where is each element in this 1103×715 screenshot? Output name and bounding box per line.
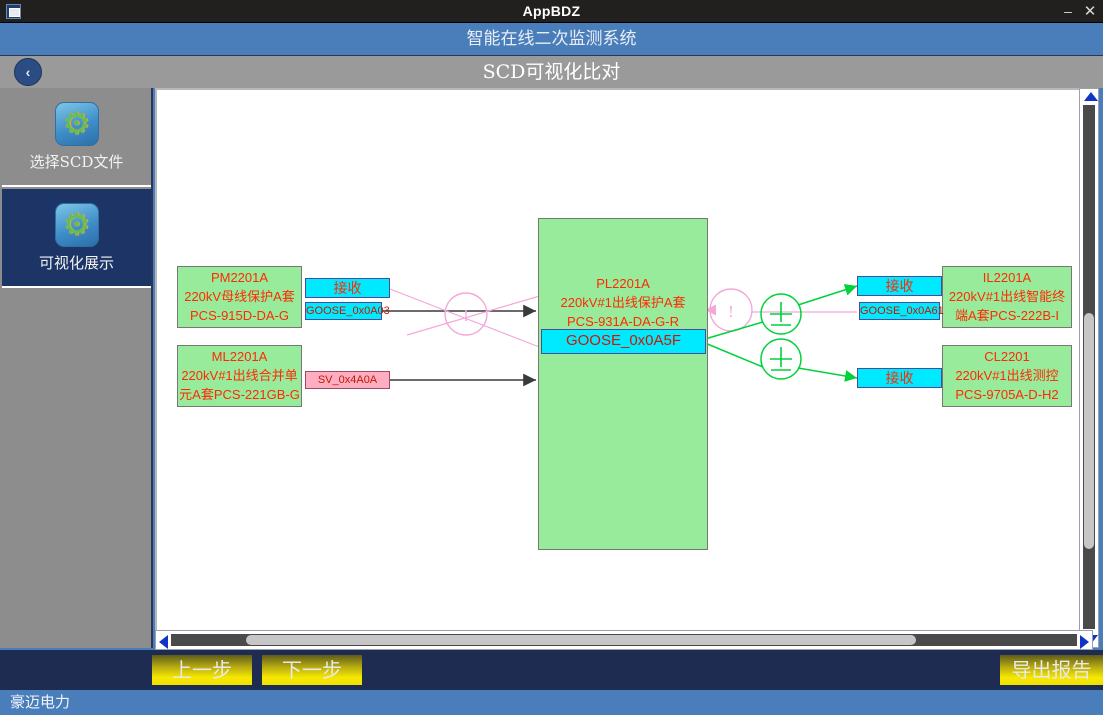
sidebar: 选择SCD文件 可视化展示 xyxy=(0,88,153,648)
device-box-ml2201a[interactable]: ML2201A 220kV#1出线合并单 元A套PCS-221GB-G xyxy=(177,345,302,407)
horizontal-scroll-thumb[interactable] xyxy=(246,635,916,645)
sidebar-item-label: 选择SCD文件 xyxy=(2,151,151,172)
gear-icon xyxy=(55,102,99,146)
page-header: SCD可视化比对 xyxy=(0,56,1103,88)
scroll-right-arrow[interactable] xyxy=(1080,635,1089,649)
next-step-button[interactable]: 下一步 xyxy=(262,655,362,685)
device-box-cl2201[interactable]: CL2201 220kV#1出线测控 PCS-9705A-D-H2 xyxy=(942,345,1072,407)
device-box-il2201a[interactable]: IL2201A 220kV#1出线智能终 端A套PCS-222B-I xyxy=(942,266,1072,328)
tag-receive-il[interactable]: 接收 xyxy=(857,276,942,296)
scroll-left-arrow[interactable] xyxy=(159,635,168,649)
sidebar-item-select-scd[interactable]: 选择SCD文件 xyxy=(2,88,151,187)
previous-step-button[interactable]: 上一步 xyxy=(152,655,252,685)
horizontal-scrollbar[interactable] xyxy=(155,630,1093,650)
minimize-button[interactable]: – xyxy=(1057,0,1079,23)
tag-receive-cl[interactable]: 接收 xyxy=(857,368,942,388)
app-banner: 智能在线二次监测系统 xyxy=(0,23,1103,56)
device-line: 220kV#1出线智能终 xyxy=(943,287,1071,306)
device-line: PL2201A xyxy=(539,274,707,293)
scroll-up-arrow[interactable] xyxy=(1084,92,1098,101)
diagram-canvas-frame[interactable]: ! ! PM2201A 220kV母线保护A套 PCS-915D-DA-G xyxy=(155,88,1093,648)
close-button[interactable]: ✕ xyxy=(1079,0,1101,23)
device-line: 元A套PCS-221GB-G xyxy=(178,385,301,404)
title-bar: AppBDZ – ✕ xyxy=(0,0,1103,23)
page-title: SCD可视化比对 xyxy=(0,56,1103,88)
sidebar-item-label: 可视化展示 xyxy=(2,252,151,273)
device-line: PCS-915D-DA-G xyxy=(178,306,301,325)
device-line: IL2201A xyxy=(943,268,1071,287)
vertical-scroll-thumb[interactable] xyxy=(1084,313,1094,549)
back-button[interactable]: ‹ xyxy=(14,58,42,86)
device-line: 220kV#1出线测控 xyxy=(943,366,1071,385)
tag-sv-0x4a0a[interactable]: SV_0x4A0A xyxy=(305,371,390,389)
export-report-button[interactable]: 导出报告 xyxy=(1000,655,1103,685)
app-banner-title: 智能在线二次监测系统 xyxy=(0,23,1103,56)
tag-goose-0x0a61[interactable]: GOOSE_0x0A61 xyxy=(859,302,940,320)
gear-icon xyxy=(55,203,99,247)
svg-text:!: ! xyxy=(463,306,469,325)
diagram-canvas[interactable]: ! ! PM2201A 220kV母线保护A套 PCS-915D-DA-G xyxy=(157,90,1077,632)
device-line: PCS-9705A-D-H2 xyxy=(943,385,1071,404)
device-line: PM2201A xyxy=(178,268,301,287)
status-bar: 豪迈电力 xyxy=(0,690,1103,715)
device-line: 端A套PCS-222B-I xyxy=(943,306,1071,325)
bottom-toolbar: 上一步 下一步 导出报告 xyxy=(0,650,1103,690)
tag-receive-pm[interactable]: 接收 xyxy=(305,278,390,298)
svg-text:!: ! xyxy=(728,302,734,321)
device-line: 220kV母线保护A套 xyxy=(178,287,301,306)
window-title: AppBDZ xyxy=(0,0,1103,23)
device-line: 220kV#1出线保护A套 xyxy=(539,293,707,312)
device-box-pm2201a[interactable]: PM2201A 220kV母线保护A套 PCS-915D-DA-G xyxy=(177,266,302,328)
device-line: 220kV#1出线合并单 xyxy=(178,366,301,385)
sidebar-item-visualize[interactable]: 可视化展示 xyxy=(2,189,151,288)
device-line: ML2201A xyxy=(178,347,301,366)
device-line: CL2201 xyxy=(943,347,1071,366)
tag-goose-0x0a03[interactable]: GOOSE_0x0A03 xyxy=(305,302,382,320)
device-box-pl2201a[interactable]: PL2201A 220kV#1出线保护A套 PCS-931A-DA-G-R xyxy=(538,218,708,550)
vertical-scrollbar[interactable] xyxy=(1079,88,1099,648)
tag-goose-0x0a5f[interactable]: GOOSE_0x0A5F xyxy=(541,329,706,354)
status-bar-text: 豪迈电力 xyxy=(10,690,70,715)
